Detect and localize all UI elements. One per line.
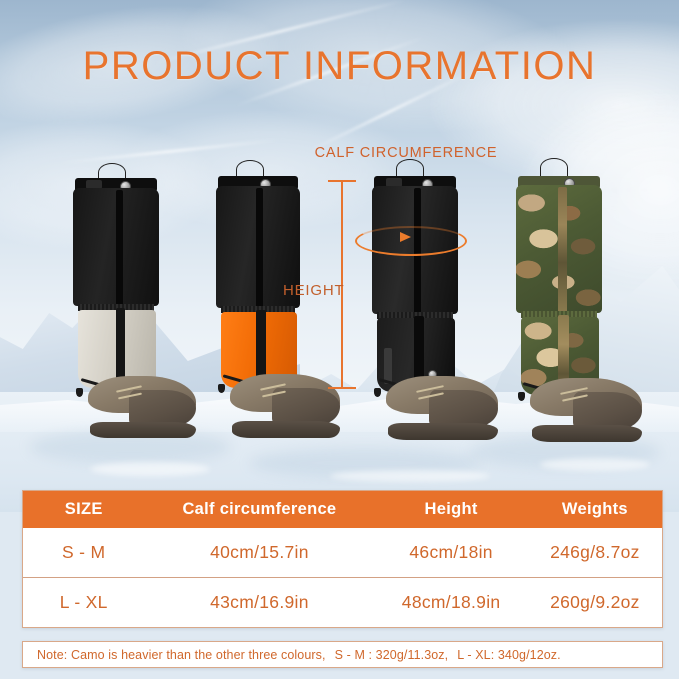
- hiking-boot: [88, 376, 196, 438]
- page-title: PRODUCT INFORMATION: [0, 44, 679, 89]
- gaiter-front-strap: [558, 187, 567, 313]
- gaiter-black[interactable]: [372, 176, 458, 410]
- gaiter-hook-icon: [518, 392, 525, 401]
- cell-weight: 260g/9.2oz: [528, 578, 662, 627]
- note-main-text: Note: Camo is heavier than the other thr…: [23, 648, 326, 662]
- boot-sole: [232, 421, 340, 438]
- cell-height: 48cm/18.9in: [374, 578, 527, 627]
- table-row: S - M 40cm/15.7in 46cm/18in 246g/8.7oz: [23, 528, 662, 577]
- cell-calf: 40cm/15.7in: [144, 528, 374, 577]
- table-body: S - M 40cm/15.7in 46cm/18in 246g/8.7oz L…: [23, 528, 662, 627]
- drawcord-icon: [540, 158, 568, 177]
- hiking-boot: [386, 376, 498, 440]
- boot-sole: [532, 425, 642, 442]
- note-sm-weight: S - M : 320g/11.3oz,: [326, 648, 449, 662]
- snow-texture: [90, 462, 210, 476]
- hiking-boot: [530, 378, 642, 442]
- snow-texture: [330, 470, 490, 482]
- note-lxl-weight: L - XL: 340g/12oz.: [448, 648, 561, 662]
- table-header-row: SIZE Calf circumference Height Weights: [23, 491, 662, 528]
- calf-circumference-ellipse-icon: [355, 226, 467, 256]
- table-header-size: SIZE: [23, 491, 144, 528]
- gaiter-grey[interactable]: [72, 178, 160, 408]
- boot-sole: [388, 423, 498, 440]
- height-arrow-cap-top: [328, 180, 356, 182]
- cell-calf: 43cm/16.9in: [144, 578, 374, 627]
- gaiter-front-strap: [116, 190, 123, 306]
- table-row: L - XL 43cm/16.9in 48cm/18.9in 260g/9.2o…: [23, 577, 662, 627]
- gaiter-front-strap: [256, 188, 263, 308]
- hiking-boot: [230, 374, 340, 438]
- table-note-row: Note: Camo is heavier than the other thr…: [22, 641, 663, 668]
- gaiter-hook-icon: [374, 388, 381, 397]
- table-header-calf: Calf circumference: [144, 491, 374, 528]
- calf-circumference-label: CALF CIRCUMFERENCE: [306, 145, 506, 161]
- cell-size: L - XL: [23, 578, 144, 627]
- product-information-page: PRODUCT INFORMATION: [0, 0, 679, 679]
- gaiter-hook-icon: [218, 384, 225, 393]
- cell-height: 46cm/18in: [374, 528, 527, 577]
- gaiter-camo[interactable]: [516, 176, 602, 412]
- boot-sole: [90, 422, 196, 438]
- cell-size: S - M: [23, 528, 144, 577]
- height-label: HEIGHT: [283, 282, 344, 299]
- table-header-height: Height: [374, 491, 527, 528]
- cell-weight: 246g/8.7oz: [528, 528, 662, 577]
- snow-texture: [540, 458, 650, 471]
- height-arrow-cap-bottom: [328, 387, 356, 389]
- gaiter-hook-icon: [76, 388, 83, 397]
- table-header-weight: Weights: [528, 491, 662, 528]
- calf-circumference-arrow-icon: [400, 232, 411, 242]
- specification-table: SIZE Calf circumference Height Weights S…: [22, 490, 663, 628]
